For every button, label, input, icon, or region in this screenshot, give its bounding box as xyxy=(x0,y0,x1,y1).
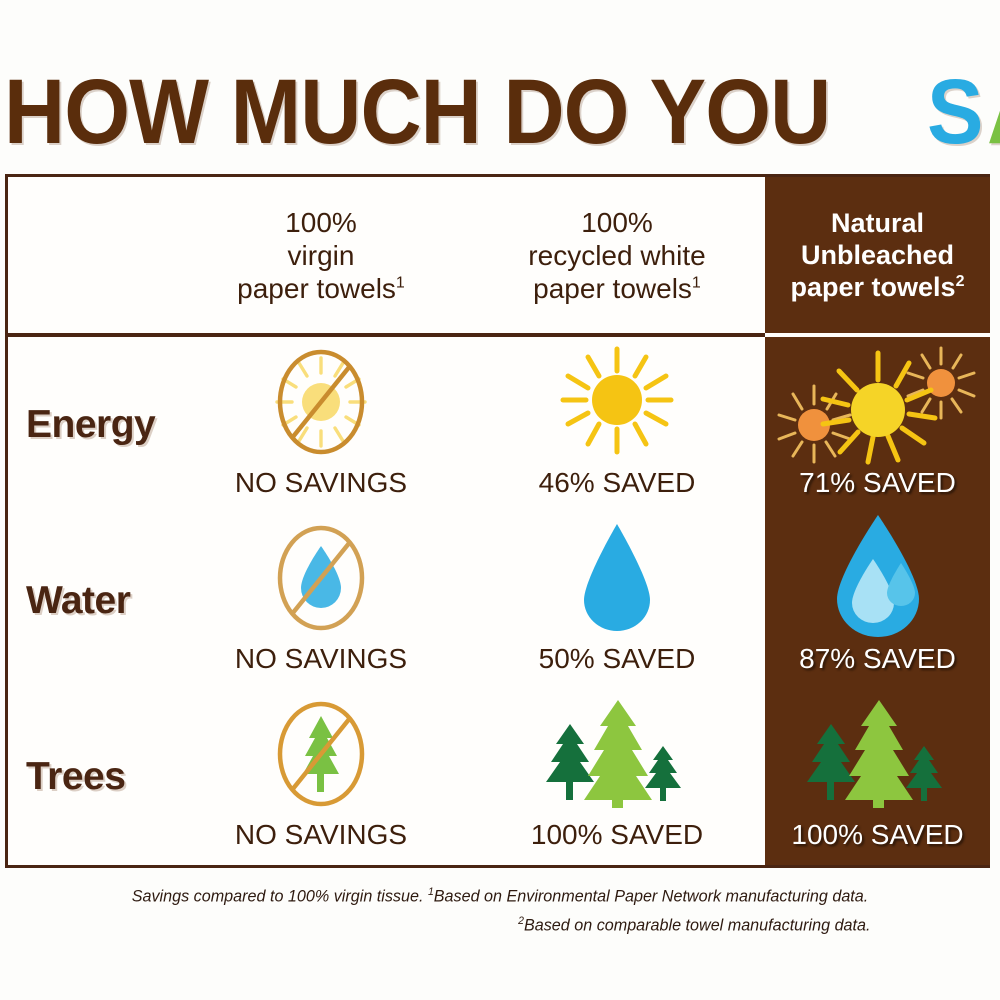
header-virgin-line2: virgin xyxy=(237,239,405,272)
value-water-unbleached: 87% SAVED xyxy=(765,643,990,675)
value-water-virgin: NO SAVINGS xyxy=(173,643,469,675)
header-cell-recycled: 100% recycled white paper towels1 xyxy=(469,177,765,333)
value-trees-recycled: 100% SAVED xyxy=(469,819,765,851)
large-water-drop-icon xyxy=(765,523,990,633)
header-recycled-footnote-mark: 1 xyxy=(692,274,701,291)
header-unbleached-footnote-mark: 2 xyxy=(956,273,965,290)
row-label-water: Water xyxy=(26,579,130,623)
cell-trees-virgin: NO SAVINGS xyxy=(173,689,469,865)
three-trees-icon xyxy=(469,699,765,809)
row-label-energy: Energy xyxy=(26,403,155,447)
cell-energy-unbleached: 71% SAVED xyxy=(765,337,990,513)
header-recycled-line2: recycled white xyxy=(528,239,705,272)
value-energy-virgin: NO SAVINGS xyxy=(173,467,469,499)
footnote-line1-text-b: Based on Environmental Paper Network man… xyxy=(434,887,869,906)
table-row-trees: Trees NO SAVINGS xyxy=(8,689,993,865)
row-label-cell-water: Water xyxy=(8,513,173,689)
cell-water-virgin: NO SAVINGS xyxy=(173,513,469,689)
water-drop-icon xyxy=(469,523,765,633)
header-virgin-footnote-mark: 1 xyxy=(396,274,405,291)
cell-water-recycled: 50% SAVED xyxy=(469,513,765,689)
row-label-cell-energy: Energy xyxy=(8,337,173,513)
footnote: Savings compared to 100% virgin tissue. … xyxy=(73,880,928,937)
value-energy-unbleached: 71% SAVED xyxy=(765,467,990,499)
three-trees-icon xyxy=(765,699,990,809)
title-letter-a: A xyxy=(987,66,1000,158)
cell-trees-recycled: 100% SAVED xyxy=(469,689,765,865)
cell-trees-unbleached: 100% SAVED xyxy=(765,689,990,865)
header-virgin-line3: paper towels xyxy=(237,273,396,304)
footnote-line-1: Savings compared to 100% virgin tissue. … xyxy=(73,880,928,909)
no-savings-drop-icon xyxy=(173,523,469,633)
header-virgin-line1: 100% xyxy=(237,206,405,239)
footnote-line1-text-a: Savings compared to 100% virgin tissue. xyxy=(132,887,428,906)
header-unbleached-line2: Unbleached xyxy=(791,239,965,271)
table-header-row: 100% virgin paper towels1 100% recycled … xyxy=(8,177,993,333)
header-recycled-line1: 100% xyxy=(528,206,705,239)
cell-energy-recycled: 46% SAVED xyxy=(469,337,765,513)
value-energy-recycled: 46% SAVED xyxy=(469,467,765,499)
three-suns-icon xyxy=(765,347,990,457)
row-label-cell-trees: Trees xyxy=(8,689,173,865)
footnote-line2-text: Based on comparable towel manufacturing … xyxy=(524,915,871,934)
value-water-recycled: 50% SAVED xyxy=(469,643,765,675)
value-trees-unbleached: 100% SAVED xyxy=(765,819,990,851)
title-main-text: HOW MUCH DO YOU xyxy=(4,66,853,158)
title-letter-s: S xyxy=(927,66,983,158)
cell-water-unbleached: 87% SAVED xyxy=(765,513,990,689)
header-recycled-line3: paper towels xyxy=(533,273,692,304)
table-row-energy: Energy xyxy=(8,337,993,513)
header-cell-virgin: 100% virgin paper towels1 xyxy=(173,177,469,333)
cell-energy-virgin: NO SAVINGS xyxy=(173,337,469,513)
table-row-water: Water NO SAVINGS 50% SAVED xyxy=(8,513,993,689)
no-savings-sun-icon xyxy=(173,347,469,457)
comparison-table: 100% virgin paper towels1 100% recycled … xyxy=(5,174,990,868)
footnote-line-2: 2Based on comparable towel manufacturing… xyxy=(73,909,928,938)
no-savings-tree-icon xyxy=(173,699,469,809)
header-unbleached-line1: Natural xyxy=(791,207,965,239)
header-cell-unbleached: Natural Unbleached paper towels2 xyxy=(765,177,990,333)
header-cell-blank xyxy=(8,177,173,333)
row-label-trees: Trees xyxy=(26,755,125,799)
value-trees-virgin: NO SAVINGS xyxy=(173,819,469,851)
page-title: HOW MUCH DO YOU SAVE? xyxy=(4,62,996,162)
sun-icon xyxy=(469,347,765,457)
header-unbleached-line3: paper towels xyxy=(791,272,956,302)
